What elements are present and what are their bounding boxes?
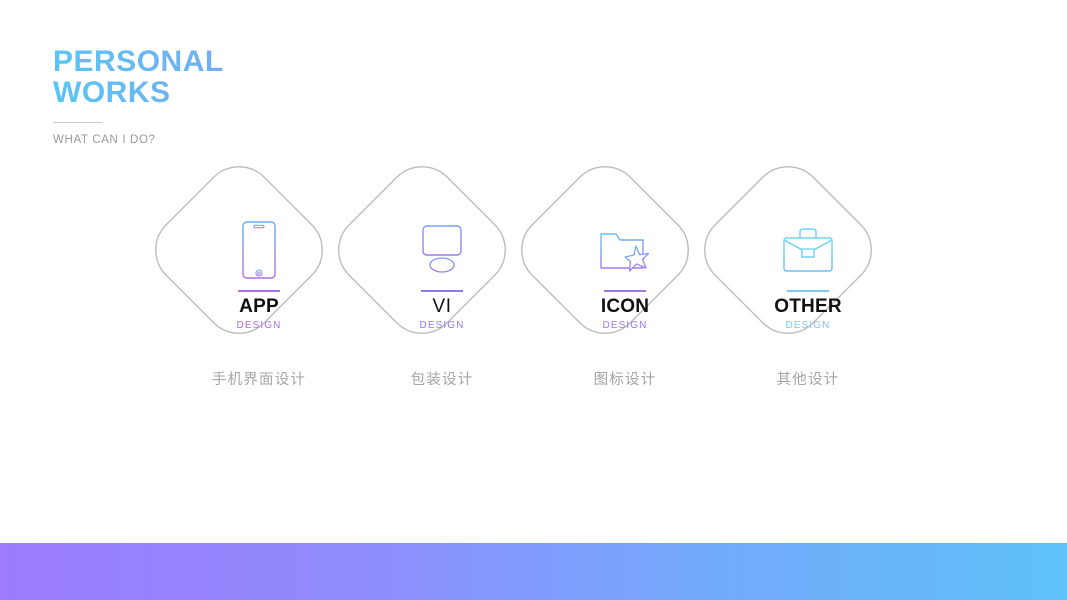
card-title: OTHER (774, 296, 842, 318)
card-title: ICON (601, 296, 649, 318)
card-title: VI (433, 296, 452, 318)
header-divider (53, 122, 103, 123)
card-subtitle: DESIGN (420, 320, 465, 332)
page-title-line-1: PERSONAL (53, 46, 473, 77)
page-title-line-2: WORKS (53, 77, 473, 108)
card-caption: 图标设计 (530, 368, 720, 389)
card-divider (787, 290, 829, 292)
page-subtitle: WHAT CAN I DO? (53, 134, 473, 146)
bottom-gradient-bar (0, 543, 1067, 600)
smartphone-icon (242, 216, 276, 284)
category-card-row: APP DESIGN 手机界面设计 (0, 196, 1067, 426)
card-subtitle: DESIGN (603, 320, 648, 332)
card-subtitle: DESIGN (237, 320, 282, 332)
category-card-other[interactable]: OTHER DESIGN 其他设计 (713, 196, 903, 426)
card-caption: 其他设计 (713, 368, 903, 389)
category-card-app[interactable]: APP DESIGN 手机界面设计 (164, 196, 354, 426)
card-divider (421, 290, 463, 292)
briefcase-icon (781, 216, 835, 284)
header: PERSONAL WORKS WHAT CAN I DO? (53, 46, 473, 146)
card-caption: 包装设计 (347, 368, 537, 389)
card-caption: 手机界面设计 (164, 368, 354, 389)
card-divider (604, 290, 646, 292)
category-card-icon[interactable]: ICON DESIGN 图标设计 (530, 196, 720, 426)
slide-canvas: PERSONAL WORKS WHAT CAN I DO? (0, 0, 1067, 600)
card-divider (238, 290, 280, 292)
category-card-vi[interactable]: VI DESIGN 包装设计 (347, 196, 537, 426)
folder-star-icon (598, 216, 652, 284)
monitor-icon (417, 216, 467, 284)
card-title: APP (239, 296, 279, 318)
card-subtitle: DESIGN (786, 320, 831, 332)
